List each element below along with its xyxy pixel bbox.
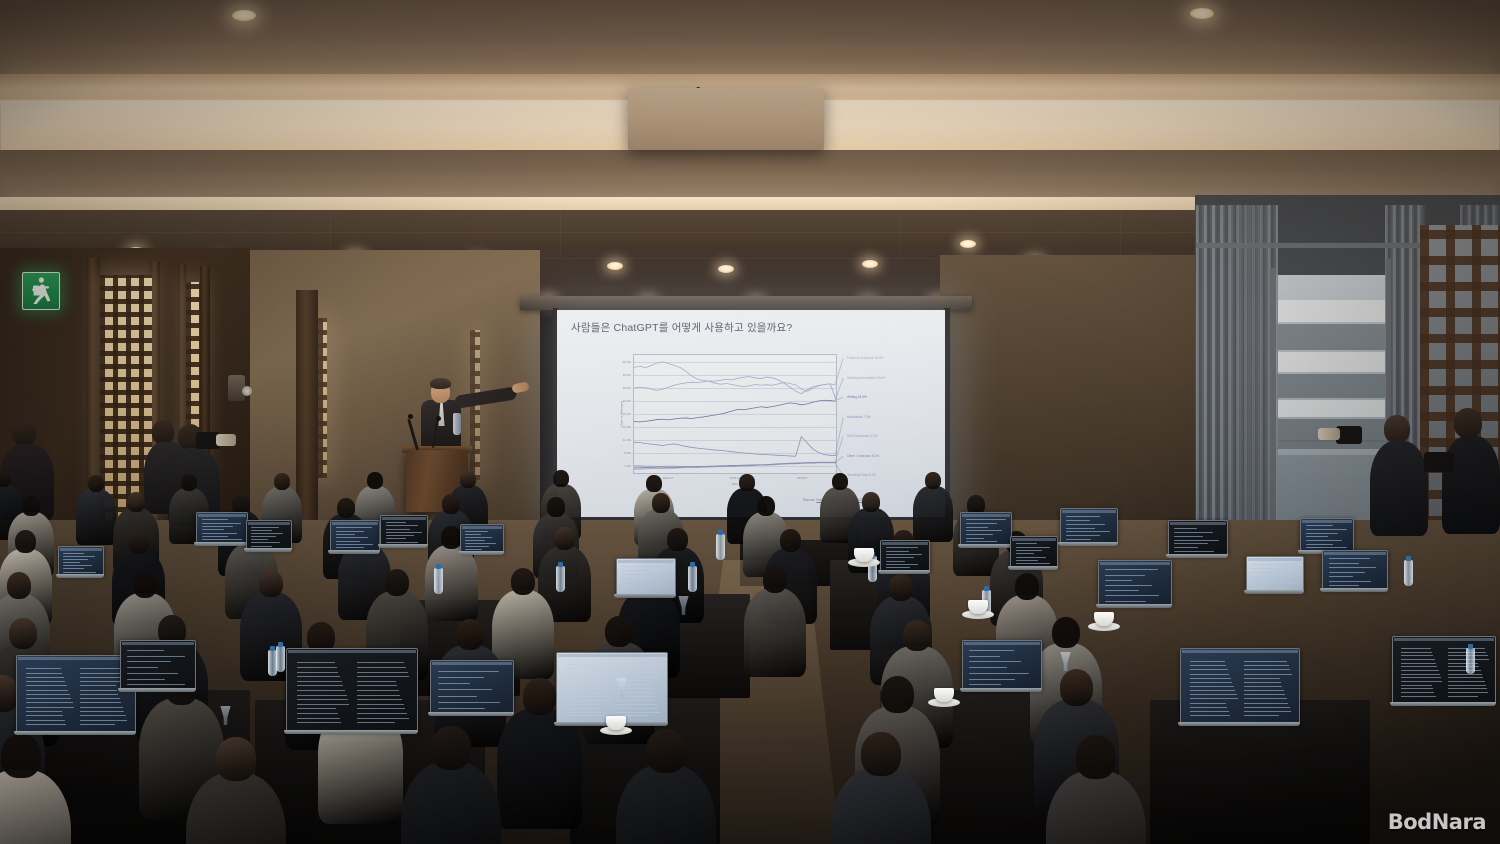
chart-plot-area: Share of Messages Date 4.0%8.0%12.0%16.0…	[633, 354, 837, 474]
chart-line-writing	[634, 400, 836, 422]
laptop-screen	[556, 652, 668, 724]
downlight	[862, 260, 878, 268]
ceiling-projector	[628, 88, 824, 150]
chart-x-axis-label: Date	[732, 482, 739, 486]
laptop-base	[1096, 604, 1172, 608]
laptop	[330, 520, 378, 555]
audience-member-head	[128, 531, 149, 554]
chart-gridline	[634, 375, 836, 376]
laptop-screen	[962, 640, 1042, 690]
laptop-text-column	[1242, 659, 1292, 718]
audience-member-head	[1015, 573, 1040, 600]
audience-member-head	[739, 474, 755, 491]
audience-member-head	[22, 496, 40, 516]
laptop-screen-content	[463, 527, 501, 550]
audience-member-head	[1076, 735, 1116, 779]
chart-legend-item: Multimedia 7.3%	[847, 415, 871, 419]
water-bottle	[716, 534, 725, 560]
audience-member-head	[763, 566, 788, 593]
laptop-screen-toolbar	[558, 654, 666, 657]
audience-member-head	[15, 530, 36, 553]
chart-gridline	[634, 401, 836, 402]
audience-member-head	[88, 475, 104, 492]
laptop	[380, 515, 426, 549]
audience-member-head	[456, 619, 485, 650]
laptop	[962, 640, 1040, 693]
laptop-screen	[430, 660, 514, 714]
chart-legend-item: Self Expression 5.3%	[847, 434, 877, 438]
laptop-screen-content	[249, 523, 289, 547]
source-prefix: Source:	[803, 498, 816, 502]
camera-body-2	[1424, 452, 1454, 472]
water-bottle	[1404, 560, 1413, 586]
audience-member-head	[646, 729, 686, 773]
audience-member-head	[133, 571, 158, 598]
laptop-base	[958, 544, 1012, 548]
downlight	[1190, 8, 1214, 19]
audience-member-head	[862, 492, 880, 512]
laptop-screen-content	[619, 561, 673, 593]
audience-member-head	[7, 572, 32, 599]
laptop-screen-content	[883, 543, 927, 569]
laptop-screen-content	[433, 663, 511, 711]
laptop-base	[614, 594, 676, 598]
laptop-screen	[460, 524, 504, 553]
laptop-screen-content	[1063, 511, 1115, 541]
laptop-screen-content	[1013, 539, 1055, 565]
laptop-screen-toolbar	[18, 657, 134, 660]
laptop-base	[118, 688, 196, 692]
laptop-base	[1058, 542, 1118, 546]
wall-clock	[242, 386, 252, 396]
chart-y-tick: 20.0%	[623, 412, 631, 416]
laptop-base	[1008, 566, 1058, 570]
audience-member-head	[1052, 617, 1081, 648]
chart-x-tick: 2025-07	[797, 476, 808, 480]
chart-y-tick: 28.0%	[623, 386, 631, 390]
laptop-screen	[330, 520, 380, 552]
audience-member-head	[1, 734, 41, 778]
chart-y-tick: 36.0%	[623, 360, 631, 364]
audience-member-head	[216, 737, 256, 781]
water-bottle	[556, 566, 565, 592]
window-curtain-left	[1196, 205, 1278, 535]
laptop-base	[378, 544, 428, 548]
chart-gridline	[634, 427, 836, 428]
audience-member-head	[0, 470, 11, 487]
laptop-screen-content	[1171, 523, 1225, 553]
laptop-base	[960, 688, 1042, 692]
laptop-text-column	[1188, 659, 1238, 718]
laptop-text-column	[1399, 646, 1442, 699]
audience-member-head	[367, 472, 383, 489]
exit-sign: ☛	[22, 272, 60, 310]
chart-gridline	[634, 466, 836, 467]
chart-legend-item: Technical Help 5.1%	[847, 473, 876, 477]
audience-member-head	[780, 529, 801, 552]
laptop	[1060, 508, 1116, 547]
audience-member-head	[903, 620, 932, 651]
laptop-screen-content	[1303, 521, 1351, 549]
laptop-screen	[1300, 518, 1354, 552]
laptop-screen	[1392, 636, 1496, 704]
chart-y-tick: 32.0%	[623, 373, 631, 377]
audience-member-head	[460, 471, 476, 488]
chart-y-tick: 24.0%	[623, 399, 631, 403]
chart-gridline	[634, 362, 836, 363]
camera-lens-3	[216, 434, 236, 446]
audience-member-head	[1060, 669, 1094, 706]
laptop-screen	[58, 546, 104, 576]
laptop-screen-toolbar	[1182, 650, 1298, 653]
laptop-screen-content	[61, 549, 101, 573]
laptop-text-column	[295, 660, 350, 726]
microphone-head	[408, 414, 413, 419]
slide-title: 사람들은 ChatGPT를 어떻게 사용하고 있을까요?	[571, 320, 792, 335]
laptop-screen	[1246, 556, 1304, 592]
audience-member-head	[523, 678, 557, 715]
chart-legend-item: Practical Guidance 28.8%	[847, 356, 884, 360]
audience-member-head	[757, 496, 775, 516]
laptop-screen-content	[1101, 563, 1169, 603]
laptop-screen-content	[963, 515, 1009, 543]
laptop	[1168, 520, 1226, 559]
laptop-screen	[616, 558, 676, 596]
laptop-base	[194, 542, 248, 546]
laptop-screen-content	[383, 518, 425, 543]
laptop-screen	[1322, 550, 1388, 590]
speaker-hair	[430, 378, 451, 389]
laptop-base	[1178, 722, 1300, 726]
laptop	[1180, 648, 1298, 727]
slide-chart: Share of Messages Date 4.0%8.0%12.0%16.0…	[585, 350, 925, 492]
audience-member-head	[832, 473, 848, 490]
laptop-screen	[960, 512, 1012, 546]
audience-member-head	[667, 528, 688, 551]
laptop-screen-content	[1325, 553, 1385, 587]
audience-member-head	[652, 493, 670, 513]
audience-member-head	[889, 574, 914, 601]
laptop-screen-toolbar	[288, 650, 416, 653]
laptop	[960, 512, 1010, 549]
laptop	[120, 640, 194, 693]
downlight	[718, 265, 734, 273]
laptop-base	[1320, 588, 1388, 592]
camera-lens	[1318, 428, 1340, 440]
audience-member-head	[925, 472, 941, 489]
audience-member-body	[913, 486, 953, 542]
laptop-screen	[196, 512, 248, 544]
laptop-screen	[1168, 520, 1228, 556]
laptop-screen	[16, 655, 136, 733]
laptop-screen-content	[1249, 559, 1301, 589]
chart-legend-item: Seeking Information 24.4%	[847, 376, 885, 380]
chart-y-tick: 12.0%	[623, 438, 631, 442]
laptop	[16, 655, 134, 736]
watermark: BodNara	[1388, 810, 1486, 834]
chart-y-tick: 8.0%	[624, 451, 631, 455]
audience-member-head	[385, 569, 410, 596]
audience-member-body	[76, 489, 116, 545]
laptop-base	[14, 731, 136, 735]
chart-gridline	[634, 440, 836, 441]
downlight	[960, 240, 976, 248]
laptop-screen	[120, 640, 196, 690]
audience-member-head	[554, 527, 575, 550]
laptop-screen-content	[123, 643, 193, 687]
laptop	[1098, 560, 1170, 609]
laptop-screen-content	[333, 523, 377, 549]
chart-x-tick: 2024-07	[662, 476, 673, 480]
speaker-water-bottle	[453, 413, 461, 435]
laptop-base	[284, 730, 418, 734]
laptop	[460, 524, 502, 556]
ceiling-slab-upper	[0, 0, 1500, 78]
laptop-base	[1244, 590, 1304, 594]
laptop-screen	[1180, 648, 1300, 724]
laptop	[286, 648, 416, 735]
laptop	[430, 660, 512, 717]
audience-member-head	[511, 568, 536, 595]
laptop-text-column	[564, 663, 610, 719]
chart-legend-item: Other / Unknown 5.2%	[847, 454, 879, 458]
laptop-text-column	[24, 667, 74, 728]
laptop-screen	[1060, 508, 1118, 544]
laptop-base	[328, 550, 380, 554]
audience-member-head	[9, 618, 38, 649]
audience-member-head	[274, 473, 290, 490]
laptop-screen	[1010, 536, 1058, 568]
audience-member-head	[861, 732, 901, 776]
audience-member-head	[547, 497, 565, 517]
laptop	[1322, 550, 1386, 593]
laptop-screen-toolbar	[1394, 638, 1494, 641]
laptop-screen	[246, 520, 292, 550]
chart-y-tick: 16.0%	[623, 425, 631, 429]
audience-member-head	[259, 570, 284, 597]
laptop-base	[244, 548, 292, 552]
laptop-screen	[880, 540, 930, 572]
audience-member-head	[127, 492, 145, 512]
audience-member-head	[553, 470, 569, 487]
downlight	[607, 262, 623, 270]
laptop-base	[458, 551, 504, 555]
projection-screen-valance	[520, 296, 972, 310]
audience-member-head	[431, 726, 471, 770]
chart-gridline	[634, 414, 836, 415]
water-bottle	[688, 566, 697, 592]
audience-member-head	[441, 526, 462, 549]
audience-member-body	[744, 588, 806, 677]
laptop-base	[1166, 554, 1228, 558]
laptop	[1392, 636, 1494, 707]
chart-y-tick: 4.0%	[624, 464, 631, 468]
audience-member-body	[425, 545, 478, 621]
downlight	[232, 10, 256, 21]
laptop	[58, 546, 102, 579]
laptop-text-column	[355, 660, 410, 726]
laptop	[1246, 556, 1302, 595]
audience-member-head	[881, 676, 915, 713]
laptop-base	[428, 712, 514, 716]
audience-member-head	[181, 474, 197, 491]
water-bottle	[276, 646, 285, 672]
audience-member-head	[337, 498, 355, 518]
microphone-head-2	[436, 416, 441, 421]
laptop-base	[1390, 702, 1496, 706]
laptop-base	[56, 574, 104, 578]
chart-gridline	[634, 388, 836, 389]
laptop-screen-content	[965, 643, 1039, 687]
chart-legend-item: Writing 23.9%	[847, 395, 867, 399]
laptop	[1010, 536, 1056, 571]
laptop-screen	[380, 515, 428, 546]
laptop	[616, 558, 674, 599]
laptop-screen	[286, 648, 418, 732]
laptop	[246, 520, 290, 553]
audience-member-head	[442, 494, 460, 514]
laptop-base	[878, 570, 930, 574]
audience-member-head	[646, 475, 662, 492]
backlit-lattice-left-3	[318, 318, 327, 478]
conference-hall-photo: ☛ 사람들은 ChatGPT를 어떻게 사용하고 있을까요? Share of …	[0, 0, 1500, 844]
laptop	[196, 512, 246, 547]
audience-member-head	[605, 616, 634, 647]
laptop-screen-content	[199, 515, 245, 541]
water-bottle	[1466, 648, 1475, 674]
laptop-screen	[1098, 560, 1172, 606]
laptop	[880, 540, 928, 575]
chart-gridline	[634, 453, 836, 454]
water-bottle	[434, 568, 443, 594]
